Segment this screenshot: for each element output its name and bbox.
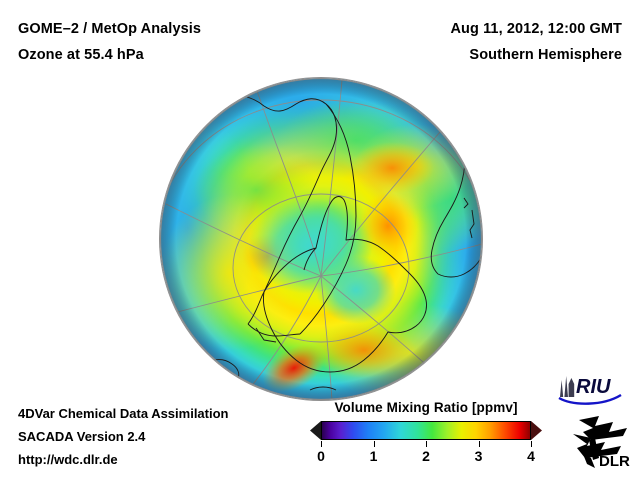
colorbar-tick	[374, 441, 375, 447]
dlr-wordmark: DLR	[599, 453, 630, 470]
colorbar-arrow-left	[310, 421, 321, 440]
riu-spires-icon	[560, 376, 574, 397]
colorbar-tick-label: 2	[422, 448, 430, 464]
colorbar-tick-label: 3	[475, 448, 483, 464]
dlr-logo-svg: DLR	[565, 414, 637, 472]
colorbar-tick-label: 4	[527, 448, 535, 464]
ozone-field-svg	[160, 78, 482, 400]
coastline-australia-fragment	[392, 83, 428, 88]
visualization-page: GOME–2 / MetOp Analysis Ozone at 55.4 hP…	[0, 0, 640, 480]
colorbar-tick-label: 0	[317, 448, 325, 464]
riu-logo: RIU	[557, 371, 637, 407]
footer-credits: 4DVar Chemical Data Assimilation SACADA …	[18, 402, 229, 471]
colorbar-row	[310, 420, 542, 441]
globe-map	[160, 78, 482, 400]
colorbar: Volume Mixing Ratio [ppmv] 01234	[305, 400, 547, 466]
colorbar-gradient	[322, 422, 530, 439]
riu-logo-svg: RIU	[557, 371, 637, 407]
globe-disc	[160, 78, 482, 400]
dlr-logo: DLR	[565, 414, 637, 472]
riu-wordmark: RIU	[576, 376, 611, 398]
colorbar-arrow-right	[531, 421, 542, 440]
coastline-africa-east	[476, 152, 481, 188]
version-label: SACADA Version 2.4	[18, 425, 229, 448]
globe-contents	[160, 78, 482, 400]
header-left: GOME–2 / MetOp Analysis Ozone at 55.4 hP…	[18, 16, 201, 68]
colorbar-ticks	[310, 441, 542, 448]
limb-shading	[160, 78, 482, 400]
colorbar-tick	[321, 441, 322, 447]
website-link[interactable]: http://wdc.dlr.de	[18, 448, 229, 471]
variable-level-title: Ozone at 55.4 hPa	[18, 42, 201, 68]
colorbar-title: Volume Mixing Ratio [ppmv]	[305, 400, 547, 415]
instrument-title: GOME–2 / MetOp Analysis	[18, 16, 201, 42]
colorbar-tick	[426, 441, 427, 447]
colorbar-tick-labels: 01234	[310, 448, 542, 466]
hemisphere-label: Southern Hemisphere	[450, 42, 622, 68]
timestamp-label: Aug 11, 2012, 12:00 GMT	[450, 16, 622, 42]
colorbar-tick-label: 1	[370, 448, 378, 464]
colorbar-tick	[479, 441, 480, 447]
header-right: Aug 11, 2012, 12:00 GMT Southern Hemisph…	[450, 16, 622, 68]
method-label: 4DVar Chemical Data Assimilation	[18, 402, 229, 425]
colorbar-tick	[531, 441, 532, 447]
colorbar-bar	[321, 421, 531, 440]
